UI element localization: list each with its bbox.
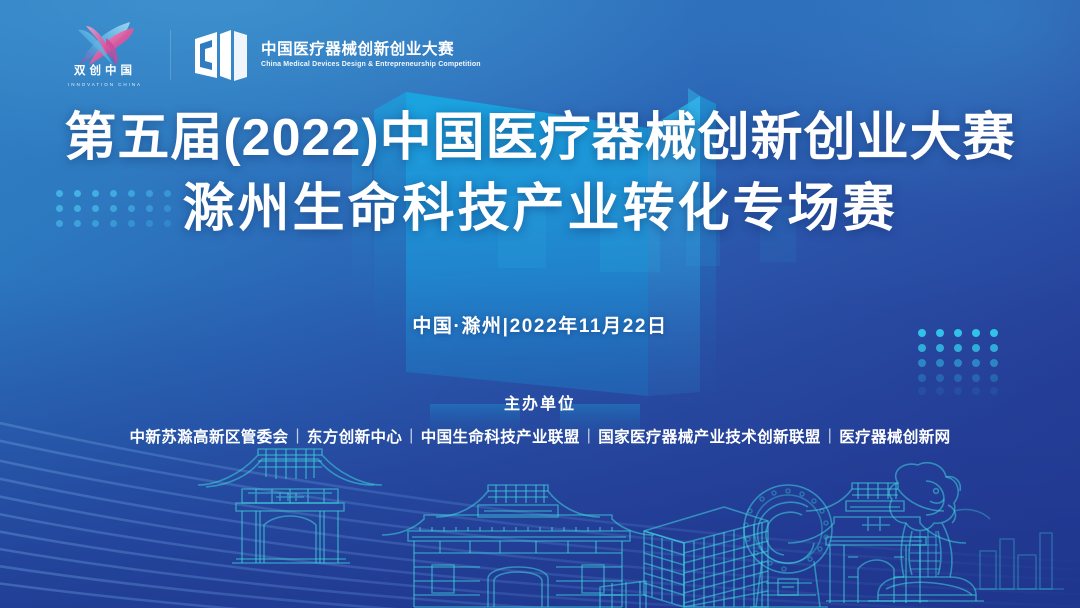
organizer-item: 中国生命科技产业联盟: [421, 425, 580, 447]
event-banner: 双创中国 INNOVATION CHINA 中国医疗器械创新创业大赛 China…: [0, 0, 1080, 608]
event-date-location: 中国·滁州|2022年11月22日: [0, 311, 1080, 338]
organizers-heading: 主办单位: [0, 390, 1080, 414]
innovation-china-logo: 双创中国 INNOVATION CHINA: [62, 22, 148, 88]
title-line-1: 第五届(2022)中国医疗器械创新创业大赛: [0, 108, 1080, 169]
organizer-separator: |: [580, 427, 598, 445]
organizer-item: 国家医疗器械产业技术创新联盟: [598, 425, 821, 447]
organizer-item: 医疗器械创新网: [839, 425, 950, 447]
innovation-china-cn-text: 双创中国: [62, 62, 148, 78]
innovation-china-en-text: INNOVATION CHINA: [62, 82, 148, 87]
dot-grid-right: [918, 329, 1008, 391]
competition-name-en: China Medical Devices Design & Entrepren…: [261, 61, 481, 68]
title-line-2: 滁州生命科技产业转化专场赛: [0, 179, 1080, 240]
organizer-item: 东方创新中心: [307, 425, 402, 447]
organizer-separator: |: [288, 427, 306, 445]
competition-logo: 中国医疗器械创新创业大赛 China Medical Devices Desig…: [193, 29, 481, 81]
city-skyline: [0, 433, 1080, 608]
organizer-separator: |: [821, 427, 839, 445]
competition-name-cn: 中国医疗器械创新创业大赛: [261, 42, 481, 58]
organizers-list: 中新苏滁高新区管委会|东方创新中心|中国生命科技产业联盟|国家医疗器械产业技术创…: [0, 425, 1080, 447]
organizer-separator: |: [402, 427, 420, 445]
organizer-item: 中新苏滁高新区管委会: [129, 425, 288, 447]
logo-divider: [170, 30, 171, 80]
bird-logo-icon: [72, 20, 138, 66]
banner-title-block: 第五届(2022)中国医疗器械创新创业大赛 滁州生命科技产业转化专场赛: [0, 108, 1080, 241]
open-door-mark-icon: [193, 29, 249, 81]
banner-header: 双创中国 INNOVATION CHINA 中国医疗器械创新创业大赛 China…: [62, 22, 481, 88]
competition-logo-text: 中国医疗器械创新创业大赛 China Medical Devices Desig…: [261, 42, 481, 68]
